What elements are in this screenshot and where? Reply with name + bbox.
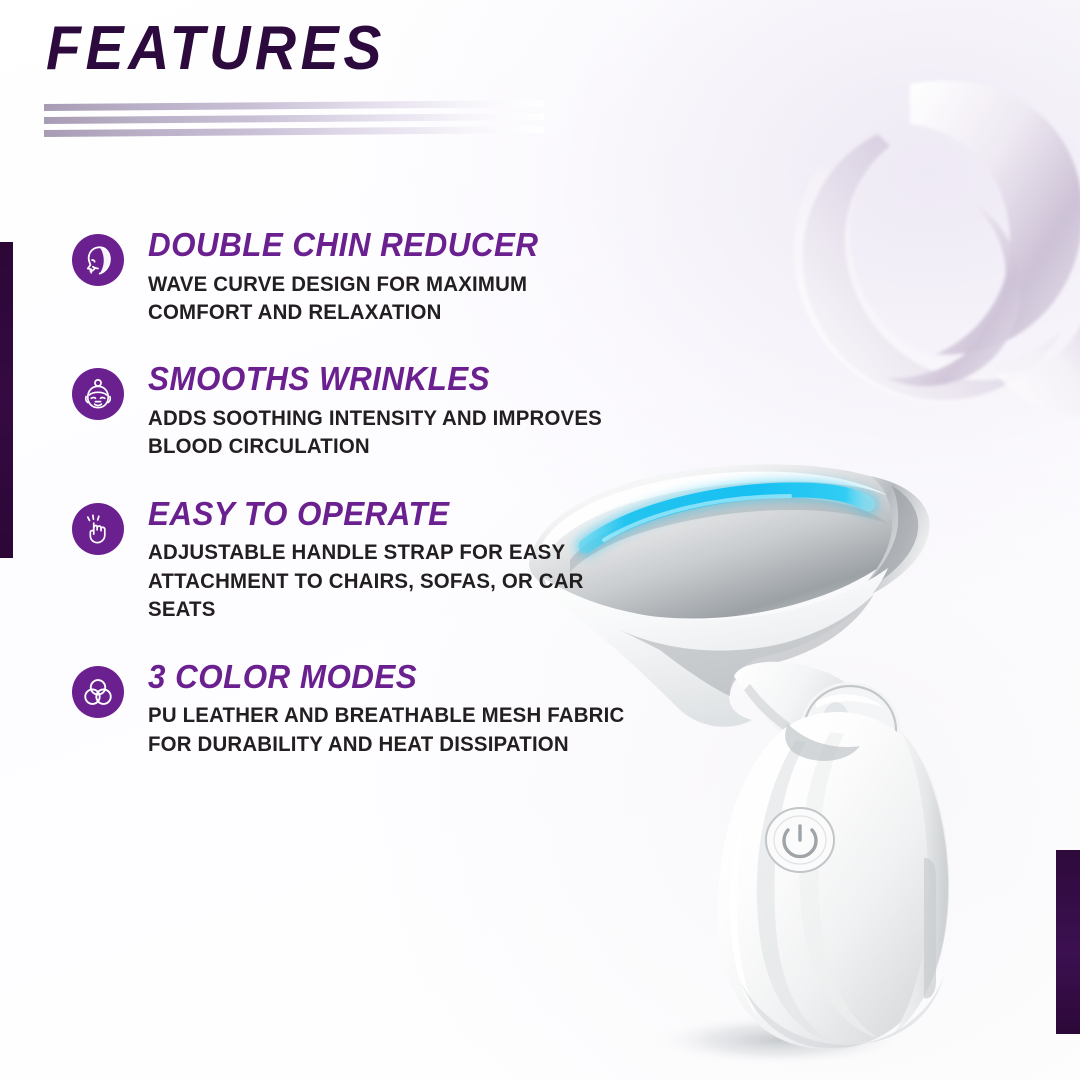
poster-canvas: FEATURES [0, 0, 1080, 1080]
feature-heading: DOUBLE CHIN REDUCER [148, 228, 538, 263]
lavender-ribbon-swirl [760, 74, 1080, 474]
feature-heading: SMOOTHS WRINKLES [148, 362, 602, 397]
feature-item: SMOOTHS WRINKLES ADDS SOOTHING INTENSITY… [72, 362, 672, 460]
page-header: FEATURES [46, 18, 606, 80]
rule-line-2 [44, 113, 544, 124]
feature-heading: 3 COLOR MODES [148, 660, 624, 695]
rule-line-3 [44, 126, 544, 137]
tapping-hand-icon [72, 503, 124, 555]
feature-body: ADDS SOOTHING INTENSITY AND IMPROVES BLO… [148, 404, 602, 461]
title-underline-rules [44, 104, 544, 138]
three-overlapping-circles-icon [72, 666, 124, 718]
feature-item: EASY TO OPERATE ADJUSTABLE HANDLE STRAP … [72, 497, 672, 624]
feature-body: PU LEATHER AND BREATHABLE MESH FABRIC FO… [148, 701, 624, 758]
feature-body: WAVE CURVE DESIGN FOR MAXIMUM COMFORT AN… [148, 270, 538, 327]
feature-text: DOUBLE CHIN REDUCER WAVE CURVE DESIGN FO… [148, 228, 559, 326]
wrinkled-face-icon [72, 368, 124, 420]
feature-item: 3 COLOR MODES PU LEATHER AND BREATHABLE … [72, 660, 672, 758]
feature-text: SMOOTHS WRINKLES ADDS SOOTHING INTENSITY… [148, 362, 626, 460]
feature-list: DOUBLE CHIN REDUCER WAVE CURVE DESIGN FO… [72, 228, 672, 758]
face-profile-chin-icon [72, 234, 124, 286]
feature-body: ADJUSTABLE HANDLE STRAP FOR EASY ATTACHM… [148, 538, 646, 623]
feature-heading: EASY TO OPERATE [148, 497, 646, 532]
feature-text: 3 COLOR MODES PU LEATHER AND BREATHABLE … [148, 660, 650, 758]
power-button-group [766, 808, 834, 872]
feature-item: DOUBLE CHIN REDUCER WAVE CURVE DESIGN FO… [72, 228, 672, 326]
feature-text: EASY TO OPERATE ADJUSTABLE HANDLE STRAP … [148, 497, 672, 624]
page-title: FEATURES [46, 18, 561, 80]
left-accent-bar [0, 242, 13, 558]
